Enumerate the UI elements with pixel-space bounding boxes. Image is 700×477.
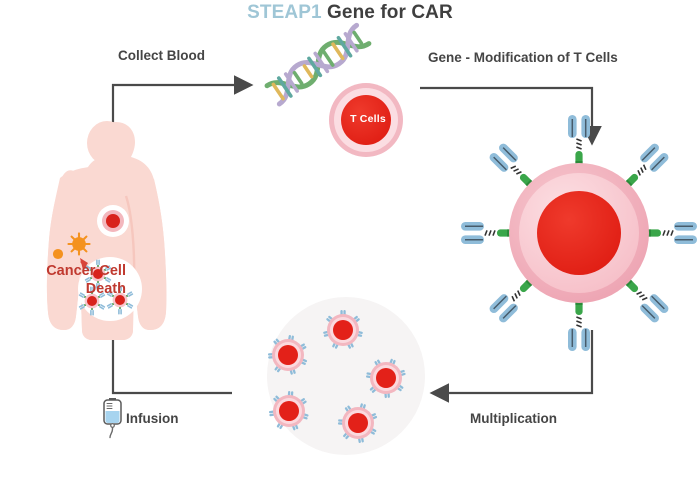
multiplication-group bbox=[267, 297, 425, 455]
step-label-collect-blood: Collect Blood bbox=[118, 48, 205, 63]
cancer-label-line-1: Cancer Cell bbox=[46, 263, 126, 279]
iv-bag-icon bbox=[104, 398, 121, 438]
infusion-site-icon bbox=[97, 205, 129, 237]
car-t-cell-modified bbox=[461, 115, 697, 351]
cancer-label-line-2: Death bbox=[86, 281, 126, 297]
t-cell-label: T Cells bbox=[338, 113, 398, 125]
cancer-cell-death-label: Cancer Cell Death bbox=[0, 262, 126, 298]
step-label-multiplication: Multiplication bbox=[470, 411, 557, 426]
arrow-gene-modification bbox=[420, 88, 592, 128]
step-label-gene-modification: Gene - Modification of T Cells bbox=[428, 50, 618, 65]
step-label-infusion: Infusion bbox=[126, 411, 179, 426]
diagram-graphics bbox=[0, 0, 700, 477]
diagram-canvas: STEAP1 Gene for CAR bbox=[0, 0, 700, 477]
